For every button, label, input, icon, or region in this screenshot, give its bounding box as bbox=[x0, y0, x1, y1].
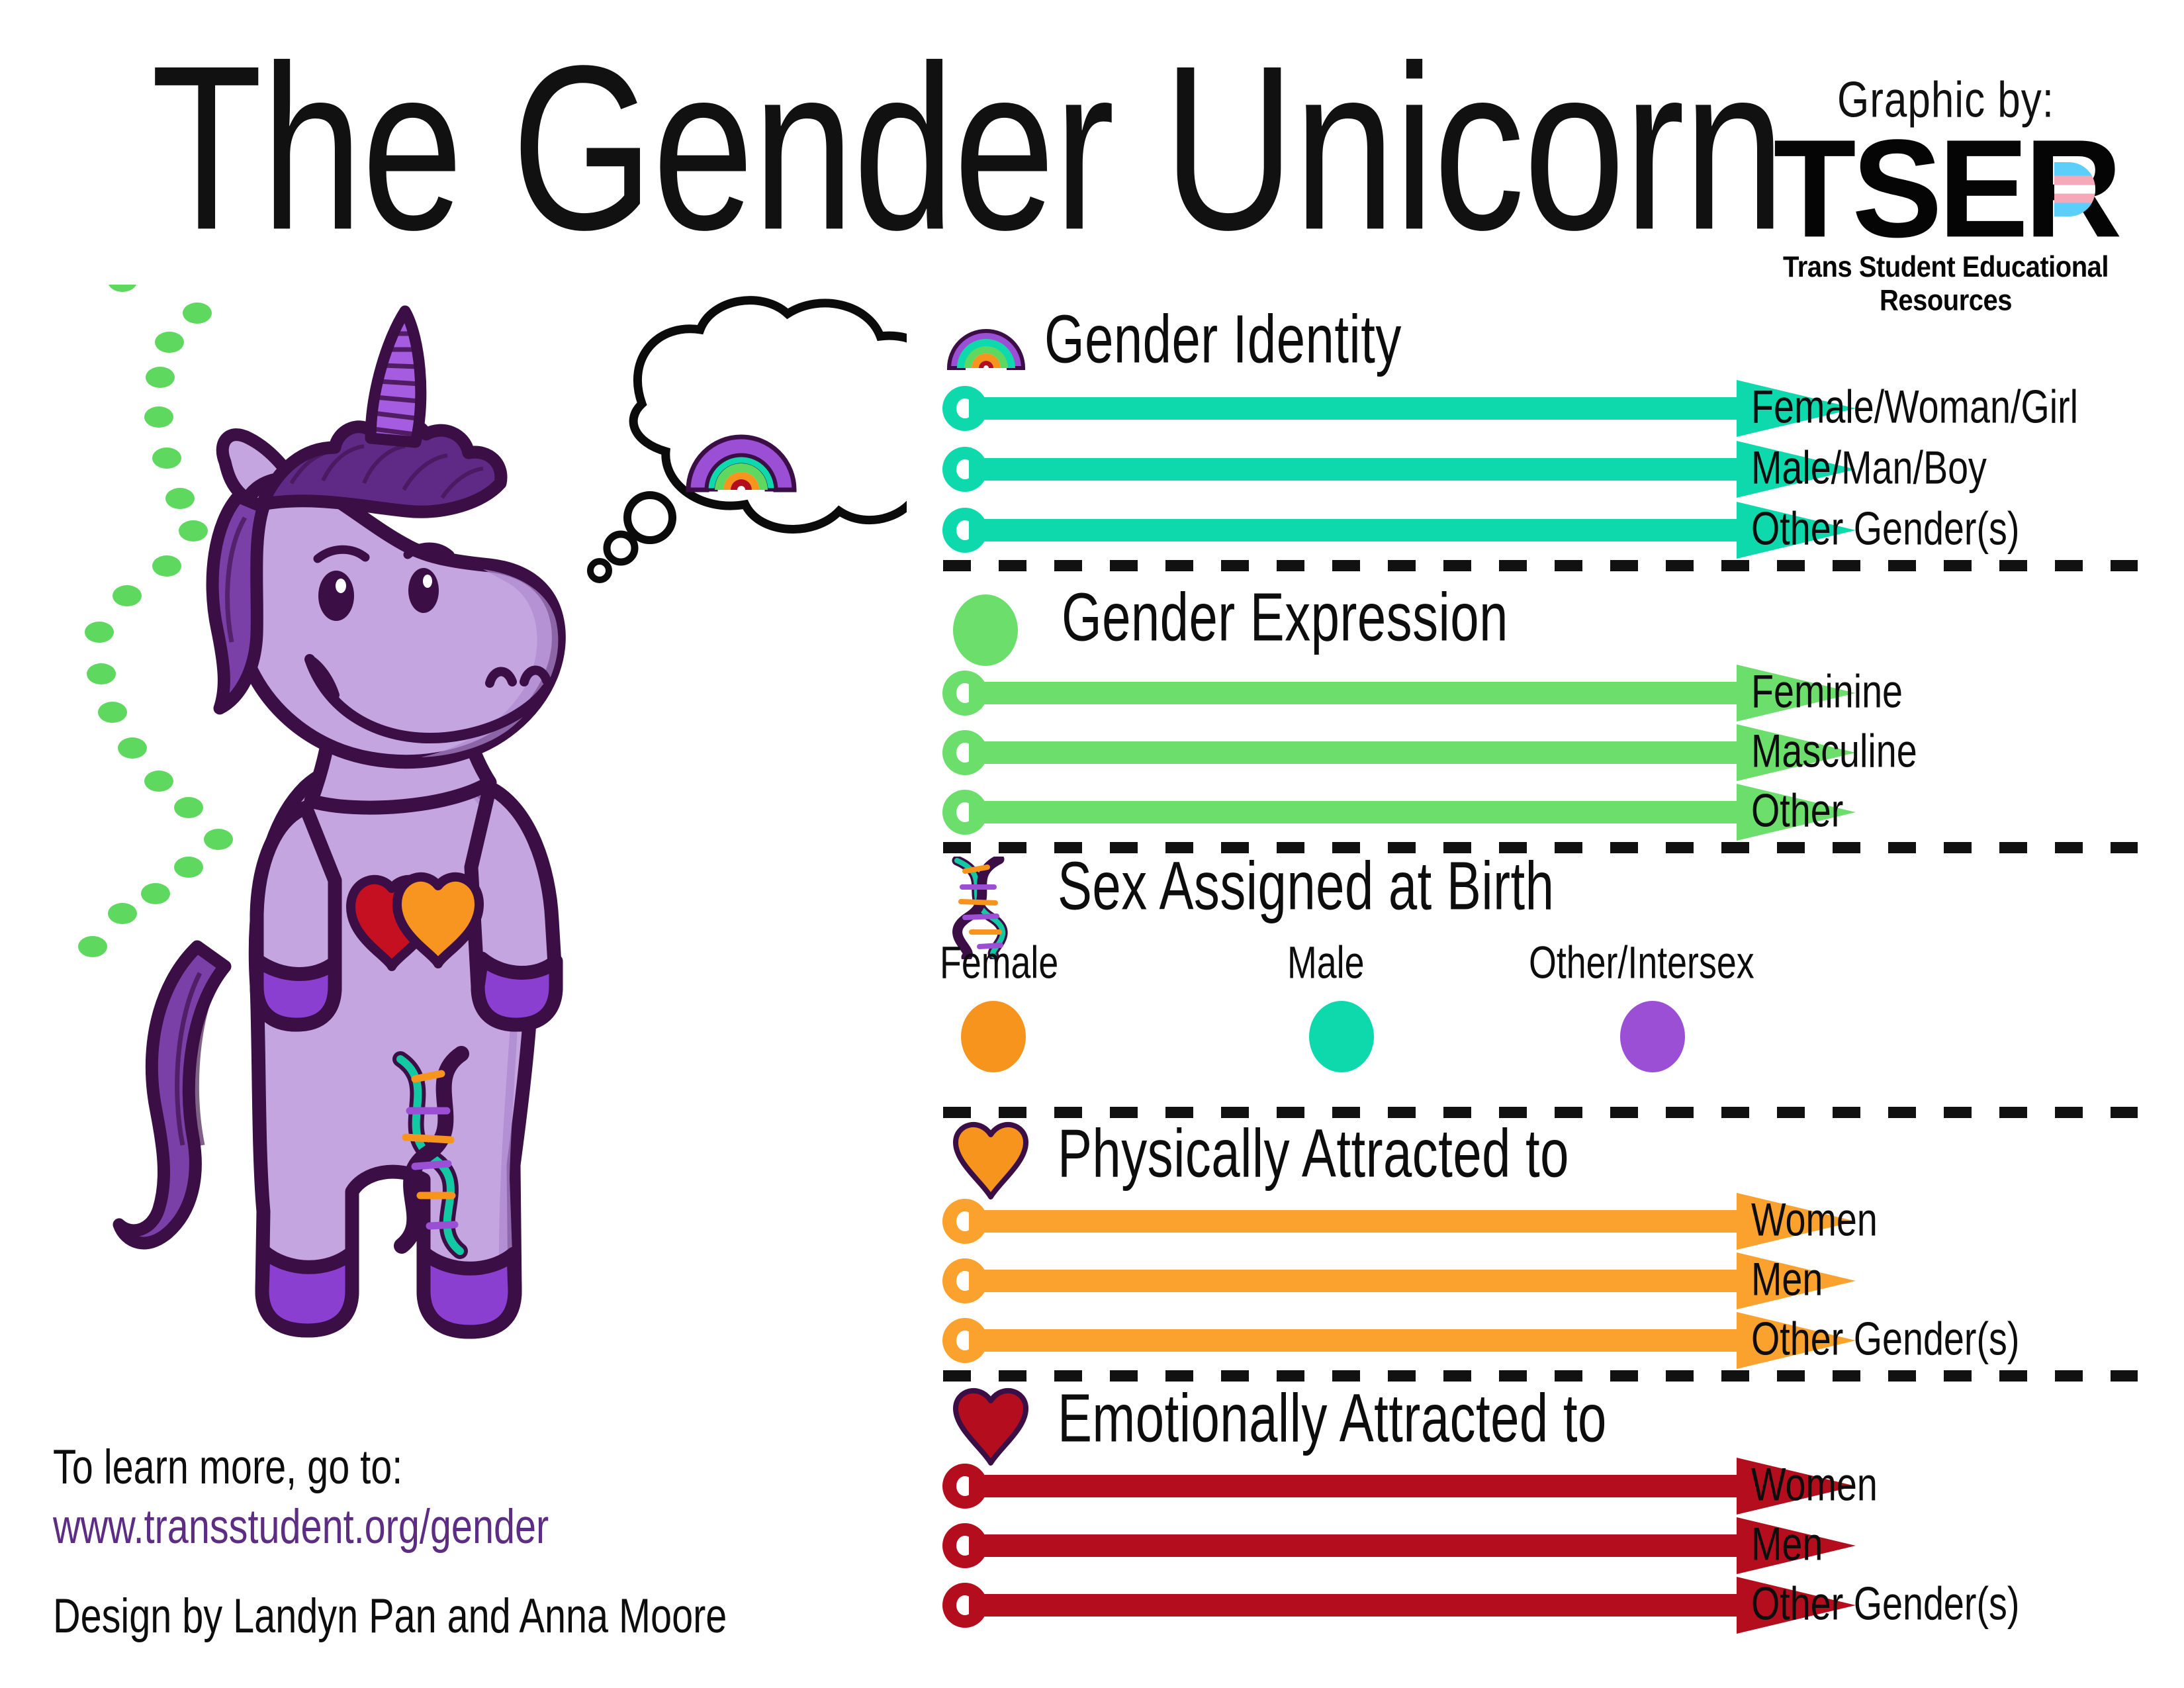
design-credit-label: Design by Landyn Pan and Anna Moore bbox=[53, 1592, 727, 1640]
rainbow-icon bbox=[946, 311, 1026, 371]
dot-other-intersex[interactable] bbox=[1620, 1001, 1685, 1072]
dot-male[interactable] bbox=[1309, 1001, 1374, 1072]
heart-darkred-icon bbox=[952, 1385, 1030, 1466]
dot-label: Other/Intersex bbox=[1529, 940, 1754, 985]
arrow-row[interactable] bbox=[942, 1587, 1849, 1623]
learn-more-label: To learn more, go to: bbox=[53, 1443, 402, 1491]
arrow-row[interactable] bbox=[942, 451, 1849, 487]
row-label: Other Gender(s) bbox=[1751, 506, 2019, 553]
row-label: Men bbox=[1751, 1256, 1823, 1303]
arrow-row[interactable] bbox=[942, 735, 1849, 771]
row-label: Men bbox=[1751, 1521, 1823, 1568]
row-label: Other Gender(s) bbox=[1751, 1581, 2019, 1628]
website-url-link[interactable]: www.transstudent.org/gender bbox=[53, 1503, 549, 1551]
dot-label: Female bbox=[940, 940, 1058, 985]
row-label: Women bbox=[1751, 1462, 1878, 1509]
heart-orange-icon bbox=[952, 1119, 1030, 1199]
tser-full-name: Trans Student Educational Resources bbox=[1734, 251, 2158, 318]
eye-left bbox=[318, 571, 354, 621]
graphic-credit-block: Graphic by: TSER Trans Student Education… bbox=[1734, 71, 2158, 310]
row-label: Women bbox=[1751, 1197, 1878, 1244]
page-title: The Gender Unicorn bbox=[151, 19, 1527, 276]
green-circle-icon bbox=[953, 594, 1018, 666]
tser-acronym: TSER bbox=[1723, 124, 2168, 253]
row-label: Other bbox=[1751, 788, 1843, 835]
section-divider bbox=[943, 1370, 2138, 1382]
section-title-emotionally-attracted-to: Emotionally Attracted to bbox=[1058, 1385, 1607, 1453]
arrow-row[interactable] bbox=[942, 794, 1849, 830]
section-title-gender-identity: Gender Identity bbox=[1044, 306, 1402, 374]
arrow-row[interactable] bbox=[942, 512, 1849, 548]
section-divider bbox=[943, 560, 2138, 571]
arrow-row[interactable] bbox=[942, 1263, 1849, 1299]
arrow-row[interactable] bbox=[942, 1468, 1849, 1504]
arrow-row[interactable] bbox=[942, 675, 1849, 711]
eye-right bbox=[408, 568, 439, 613]
dot-label: Male bbox=[1287, 940, 1365, 985]
dot-female[interactable] bbox=[961, 1001, 1026, 1072]
unicorn-tail bbox=[119, 947, 225, 1243]
section-title-gender-expression: Gender Expression bbox=[1062, 584, 1508, 652]
section-title-physically-attracted-to: Physically Attracted to bbox=[1058, 1120, 1569, 1188]
unicorn-head bbox=[212, 311, 559, 808]
row-label: Female/Woman/Girl bbox=[1751, 384, 2078, 431]
arrow-row[interactable] bbox=[942, 391, 1849, 426]
tser-logo: TSER bbox=[1734, 129, 2158, 248]
arrow-row[interactable] bbox=[942, 1203, 1849, 1239]
row-label: Masculine bbox=[1751, 728, 1917, 775]
unicorn-illustration bbox=[26, 285, 907, 1410]
row-label: Other Gender(s) bbox=[1751, 1316, 2019, 1363]
row-label: Male/Man/Boy bbox=[1751, 445, 1987, 492]
arrow-row[interactable] bbox=[942, 1323, 1849, 1358]
arrow-row[interactable] bbox=[942, 1528, 1849, 1564]
section-title-sex-assigned-at-birth: Sex Assigned at Birth bbox=[1058, 853, 1554, 921]
row-label: Feminine bbox=[1751, 669, 1903, 716]
thought-bubble bbox=[590, 301, 907, 580]
